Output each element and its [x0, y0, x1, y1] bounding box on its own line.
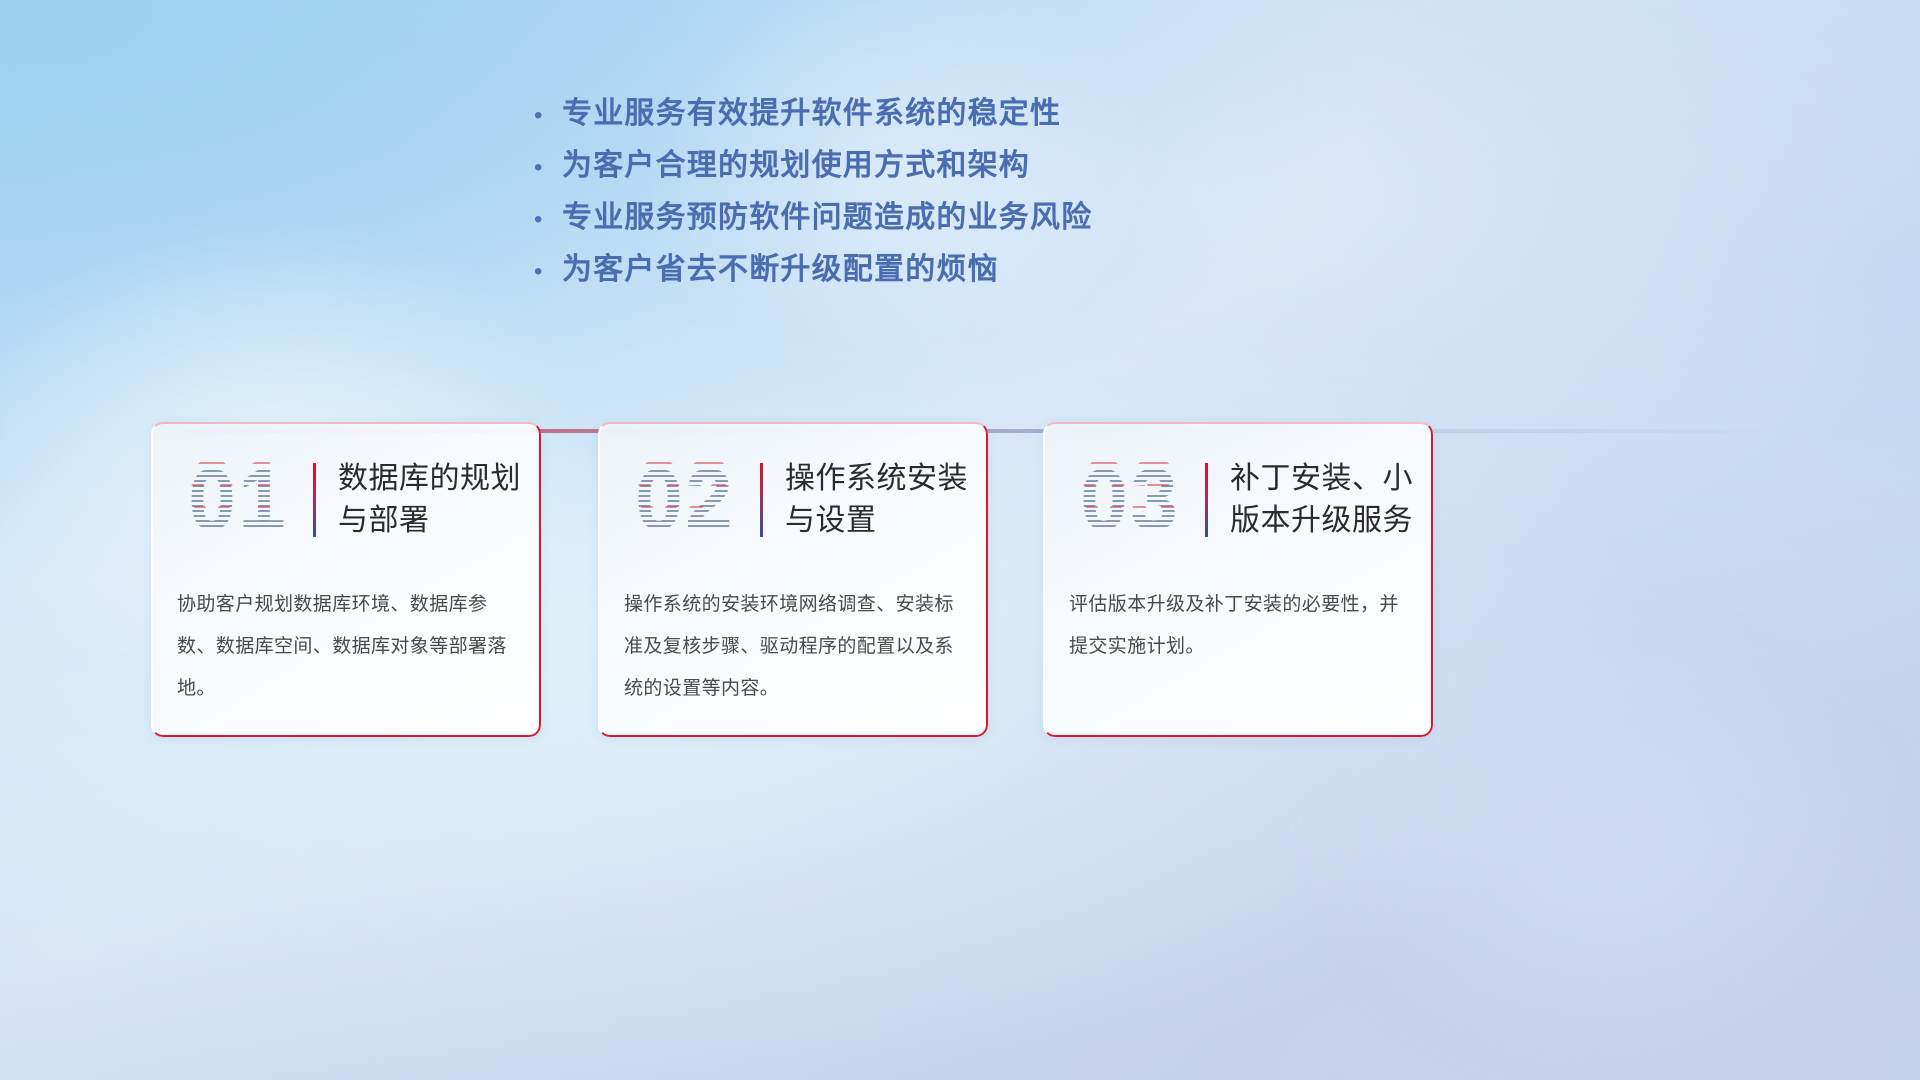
- card-2-header: 02 操作系统安装与设置: [598, 440, 988, 560]
- card-3-body: 评估版本升级及补丁安装的必要性，并提交实施计划。: [1069, 584, 1411, 668]
- bullet-item-2-label: 为客户合理的规划使用方式和架构: [562, 140, 1030, 184]
- bullet-dot-icon: •: [534, 260, 562, 284]
- bullet-item-4: • 为客户省去不断升级配置的烦恼: [534, 244, 1294, 296]
- card-3-title: 补丁安装、小版本升级服务: [1230, 458, 1433, 542]
- bullet-item-3-label: 专业服务预防软件问题造成的业务风险: [562, 192, 1092, 236]
- card-3-accent-bar: [1205, 463, 1208, 537]
- bullet-item-1-label: 专业服务有效提升软件系统的稳定性: [562, 88, 1061, 132]
- card-1-title: 数据库的规划与部署: [338, 458, 541, 542]
- card-2-accent-bar: [760, 463, 763, 537]
- card-1-body: 协助客户规划数据库环境、数据库参数、数据库空间、数据库对象等部署落地。: [177, 584, 519, 710]
- card-1-accent-bar: [313, 463, 316, 537]
- card-3-number: 03: [1061, 450, 1199, 550]
- slide-canvas: • 专业服务有效提升软件系统的稳定性 • 为客户合理的规划使用方式和架构 • 专…: [0, 0, 1920, 1080]
- bullet-dot-icon: •: [534, 156, 562, 180]
- bullet-dot-icon: •: [534, 104, 562, 128]
- bullet-list: • 专业服务有效提升软件系统的稳定性 • 为客户合理的规划使用方式和架构 • 专…: [534, 88, 1294, 296]
- card-2-body: 操作系统的安装环境网络调查、安装标准及复核步骤、驱动程序的配置以及系统的设置等内…: [624, 584, 966, 710]
- card-2-number: 02: [616, 450, 754, 550]
- card-2-title: 操作系统安装与设置: [785, 458, 988, 542]
- card-1-number: 01: [169, 450, 307, 550]
- service-card-3[interactable]: 03 补丁安装、小版本升级服务 03 评估版本升级及补丁安装的必要性，并提交实施…: [1043, 422, 1433, 737]
- bullet-item-2: • 为客户合理的规划使用方式和架构: [534, 140, 1294, 192]
- card-1-header: 01 数据库的规划与部署: [151, 440, 541, 560]
- service-card-2[interactable]: 02 操作系统安装与设置 02 操作系统的安装环境网络调查、安装标准及复核步骤、…: [598, 422, 988, 737]
- bullet-item-4-label: 为客户省去不断升级配置的烦恼: [562, 244, 999, 288]
- service-card-1[interactable]: 01 数据库的规划与部署 01 协助客户规划数据库环境、数据库参数、数据库空间、…: [151, 422, 541, 737]
- card-3-header: 03 补丁安装、小版本升级服务: [1043, 440, 1433, 560]
- bullet-item-3: • 专业服务预防软件问题造成的业务风险: [534, 192, 1294, 244]
- bullet-item-1: • 专业服务有效提升软件系统的稳定性: [534, 88, 1294, 140]
- bullet-dot-icon: •: [534, 208, 562, 232]
